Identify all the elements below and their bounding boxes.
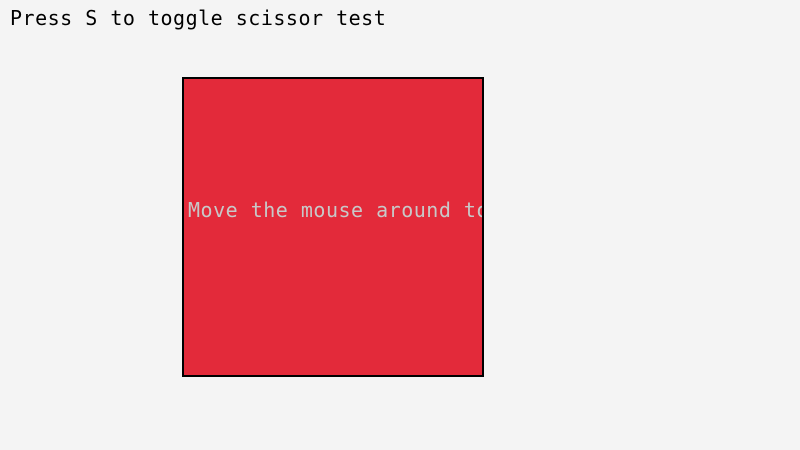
scissor-rectangle[interactable]: Move the mouse around to r [182,77,484,377]
scissor-test-canvas[interactable]: Press S to toggle scissor test Move the … [0,0,800,450]
scissor-clipped-text: Move the mouse around to r [188,199,484,221]
scissor-toggle-hint: Press S to toggle scissor test [10,7,386,29]
